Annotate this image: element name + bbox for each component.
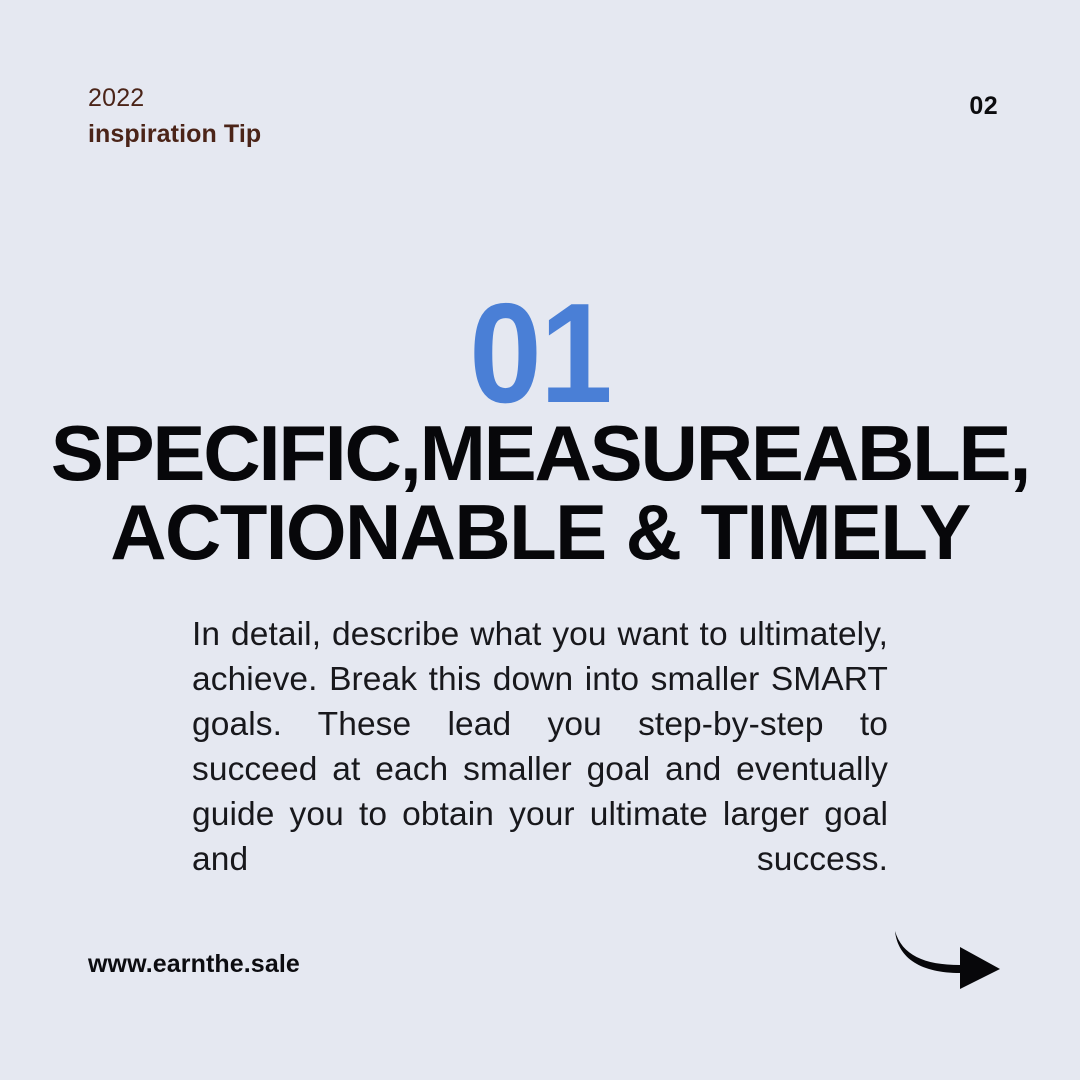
site-url: www.earnthe.sale (88, 950, 300, 979)
slide-canvas: 2022 inspiration Tip 02 01 SPECIFIC,MEAS… (0, 0, 1080, 1080)
curved-arrow-right-icon[interactable] (888, 925, 1004, 991)
page-number: 02 (969, 92, 998, 121)
tip-number: 01 (43, 283, 1037, 425)
header-year: 2022 (88, 86, 261, 111)
header-tagline: inspiration Tip (88, 122, 261, 147)
page-title: SPECIFIC,MEASUREABLE, ACTIONABLE & TIMEL… (44, 418, 1036, 569)
body-paragraph: In detail, describe what you want to ult… (192, 612, 888, 927)
headline-line-1: SPECIFIC,MEASUREABLE, (34, 418, 1046, 490)
headline-line-2: ACTIONABLE & TIMELY (44, 497, 1036, 569)
header-branding: 2022 inspiration Tip (88, 86, 261, 147)
